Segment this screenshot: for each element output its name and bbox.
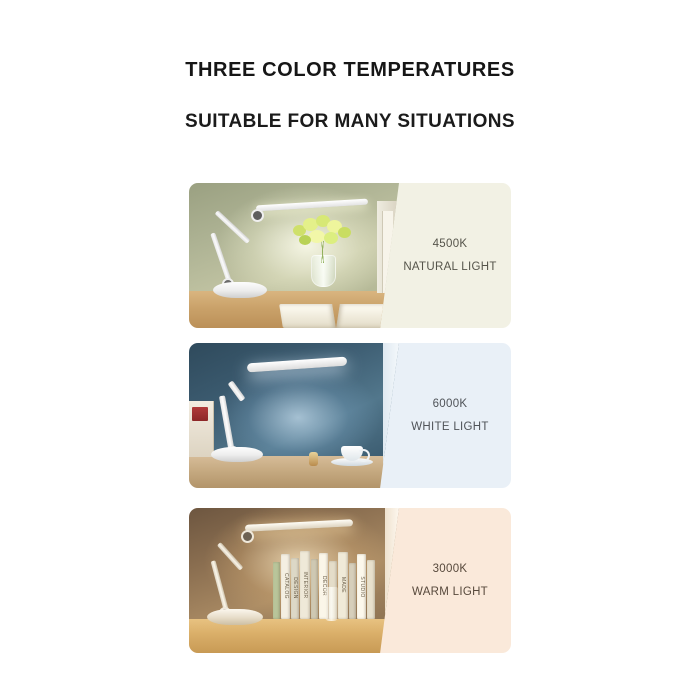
book-spine: STUDIO bbox=[357, 554, 366, 619]
page-title: THREE COLOR TEMPERATURES bbox=[0, 0, 700, 82]
book-spine: DESIGN bbox=[291, 558, 299, 619]
book-spine bbox=[273, 562, 280, 619]
book-spine-label: MADE bbox=[340, 577, 346, 593]
book-spine: CATALOG bbox=[281, 554, 290, 619]
lamp-joint-upper bbox=[241, 530, 254, 543]
label-panel-natural: 4500K NATURAL LIGHT bbox=[389, 183, 511, 328]
figurine bbox=[309, 452, 318, 466]
color-temperature-card-natural[interactable]: 4500K NATURAL LIGHT bbox=[189, 183, 511, 328]
book-box bbox=[189, 401, 214, 457]
book-spine-label: STUDIO bbox=[359, 576, 365, 597]
book-spine bbox=[349, 563, 356, 619]
light-name: WARM LIGHT bbox=[412, 586, 488, 598]
label-panel-white: 6000K WHITE LIGHT bbox=[389, 343, 511, 488]
glass-tumbler bbox=[325, 587, 338, 621]
kelvin-value: 4500K bbox=[433, 238, 468, 250]
open-book bbox=[281, 302, 391, 328]
scene-natural-light bbox=[189, 183, 399, 328]
product-feature-page: THREE COLOR TEMPERATURES SUITABLE FOR MA… bbox=[0, 0, 700, 700]
lamp-base bbox=[211, 447, 263, 462]
book-spine-label: DESIGN bbox=[292, 578, 298, 600]
book-spine: MADE bbox=[338, 552, 348, 619]
flower-blooms bbox=[291, 215, 353, 251]
color-temperature-card-white[interactable]: 6000K WHITE LIGHT bbox=[189, 343, 511, 488]
lamp-base bbox=[213, 282, 267, 298]
scene-photo-warm: CATALOGDESIGNINTERIORDECORMADESTUDIO bbox=[189, 508, 399, 653]
light-name: WHITE LIGHT bbox=[411, 421, 488, 433]
scene-warm-light: CATALOGDESIGNINTERIORDECORMADESTUDIO bbox=[189, 508, 399, 653]
book-spine bbox=[311, 559, 318, 619]
label-panel-warm: 3000K WARM LIGHT bbox=[389, 508, 511, 653]
scene-photo-natural bbox=[189, 183, 399, 328]
kelvin-value: 3000K bbox=[433, 563, 468, 575]
book-spine: INTERIOR bbox=[300, 551, 310, 619]
light-name: NATURAL LIGHT bbox=[403, 261, 496, 273]
kelvin-value: 6000K bbox=[433, 398, 468, 410]
heading-block: THREE COLOR TEMPERATURES SUITABLE FOR MA… bbox=[0, 0, 700, 134]
lamp-joint-upper bbox=[251, 209, 264, 222]
color-temperature-card-warm[interactable]: CATALOGDESIGNINTERIORDECORMADESTUDIO 300… bbox=[189, 508, 511, 653]
page-subtitle: SUITABLE FOR MANY SITUATIONS bbox=[0, 82, 700, 134]
book-spine-label: CATALOG bbox=[283, 573, 289, 599]
book-spine-label: INTERIOR bbox=[302, 571, 308, 598]
scene-white-light bbox=[189, 343, 399, 488]
scene-photo-white bbox=[189, 343, 399, 488]
lamp-base bbox=[207, 609, 263, 625]
book-spine bbox=[367, 560, 375, 619]
